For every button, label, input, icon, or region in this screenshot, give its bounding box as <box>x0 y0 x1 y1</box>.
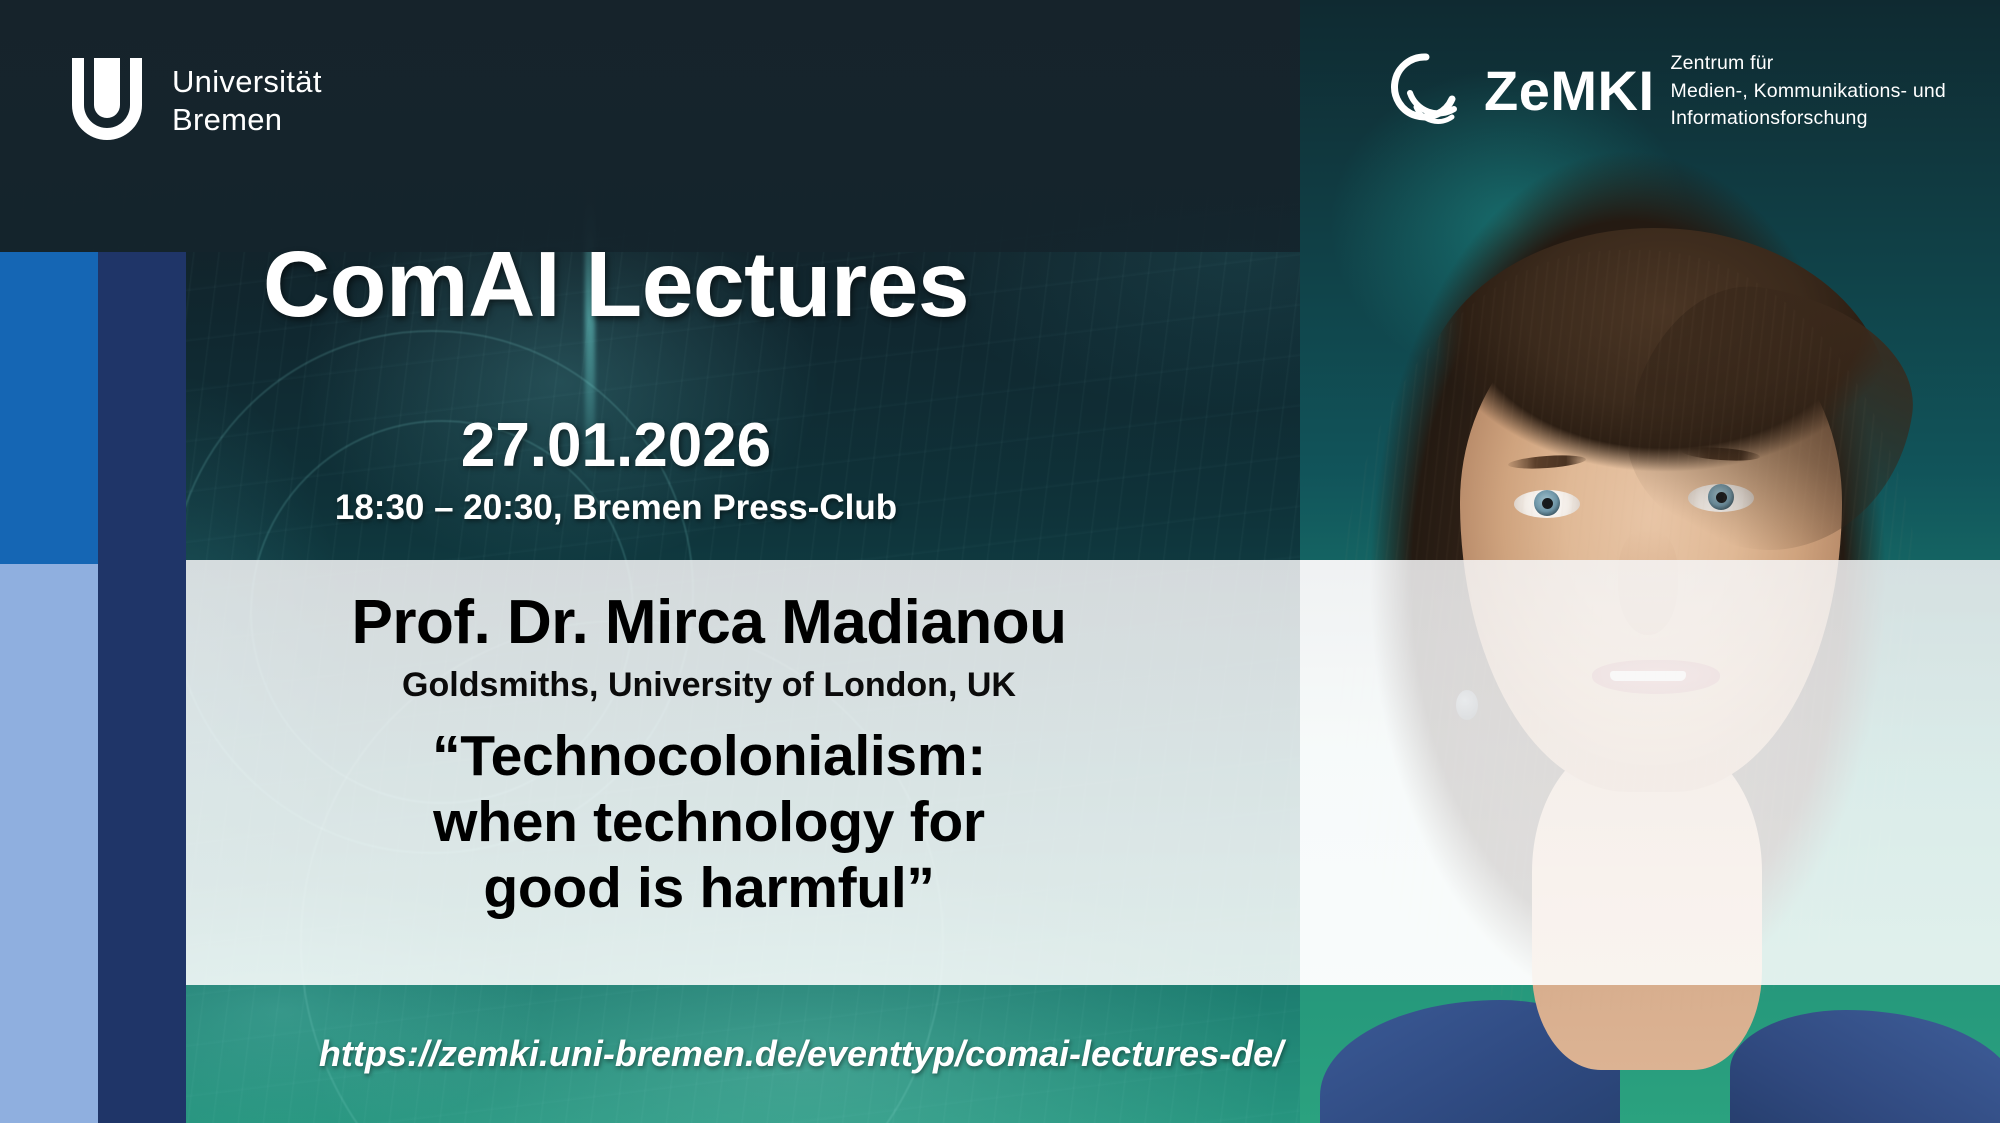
talk-title-line2: when technology for <box>433 790 985 854</box>
speaker-name: Prof. Dr. Mirca Madianou <box>186 592 1232 654</box>
zemki-subtitle-line2: Medien-, Kommunikations- und <box>1671 80 1946 102</box>
university-logo-text: Universität Bremen <box>172 63 322 139</box>
event-poster: Universität Bremen ZeMKI Zentrum für Med… <box>0 0 2000 1123</box>
zemki-subtitle: Zentrum für Medien-, Kommunikations- und… <box>1671 48 1946 133</box>
university-logo-line1: Universität <box>172 64 322 99</box>
zemki-arcs-mark-icon <box>1390 49 1468 132</box>
talk-title-line3: good is harmful” <box>483 856 934 920</box>
zemki-subtitle-line3: Informationsforschung <box>1671 107 1868 129</box>
university-logo-line2: Bremen <box>172 102 282 137</box>
university-logo: Universität Bremen <box>62 52 322 149</box>
zemki-wordmark: ZeMKI <box>1484 63 1655 119</box>
left-color-bar-outer <box>0 252 98 1123</box>
talk-title-line1: “Technocolonialism: <box>432 724 986 788</box>
uni-bremen-u-mark-icon <box>62 52 152 149</box>
zemki-subtitle-line1: Zentrum für <box>1671 52 1774 74</box>
left-color-bar-navy <box>98 252 186 1123</box>
event-time-venue: 18:30 – 20:30, Bremen Press-Club <box>0 490 1232 525</box>
event-date: 27.01.2026 <box>0 415 1232 477</box>
left-bar-blue-light <box>0 564 98 1123</box>
event-url[interactable]: https://zemki.uni-bremen.de/eventtyp/com… <box>186 1036 1416 1072</box>
zemki-logo: ZeMKI Zentrum für Medien-, Kommunikation… <box>1390 48 1946 133</box>
speaker-affiliation: Goldsmiths, University of London, UK <box>186 668 1232 702</box>
talk-title: “Technocolonialism: when technology for … <box>186 723 1232 921</box>
series-title: ComAI Lectures <box>0 238 1232 331</box>
